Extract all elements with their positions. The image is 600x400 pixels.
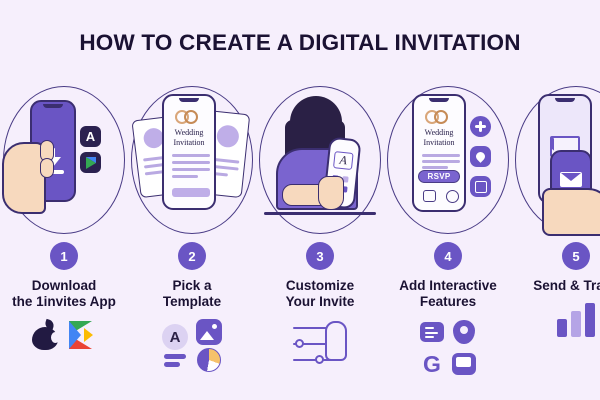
step-4-footer-icons: G: [388, 319, 508, 377]
step-2-illustration: Wedding Invitation: [128, 84, 256, 236]
step-1: A 1 Download the 1invites App: [0, 84, 128, 400]
sliders-hand-icon: [291, 319, 349, 369]
google-play-logo-icon: [66, 319, 96, 351]
step-4-illustration: Wedding Invitation RSVP: [384, 84, 512, 236]
step-4-caption: Add Interactive Features: [386, 278, 510, 310]
phone-notch: [43, 104, 63, 108]
step-1-number: 1: [50, 242, 78, 270]
text-lines-icon: [164, 354, 186, 367]
rsvp-button[interactable]: RSVP: [418, 170, 460, 183]
step-5-footer-icons: [516, 303, 600, 337]
step-4: Wedding Invitation RSVP: [384, 84, 512, 400]
google-play-icon: [80, 152, 101, 173]
wedding-rings-icon: [175, 110, 203, 124]
step-3-number: 3: [306, 242, 334, 270]
app-store-icon: A: [80, 126, 101, 147]
hand-illustration: [318, 176, 344, 210]
step-3-illustration: A: [256, 84, 384, 236]
phone-notch: [429, 98, 449, 102]
page-title: HOW TO CREATE A DIGITAL INVITATION: [0, 30, 600, 56]
step-1-caption: Download the 1invites App: [2, 278, 126, 310]
typography-a-icon: A: [162, 324, 188, 350]
desk-line: [264, 212, 376, 215]
step-1-illustration: A: [0, 84, 128, 236]
apple-logo-icon: [32, 320, 58, 350]
location-pin-icon: [470, 146, 491, 167]
step-2-caption: Pick a Template: [130, 278, 254, 310]
wedding-rings-icon: [425, 110, 453, 124]
step-2-footer-icons: A: [132, 319, 252, 372]
phone-heading: Wedding Invitation: [414, 128, 464, 148]
infographic-canvas: HOW TO CREATE A DIGITAL INVITATION: [0, 0, 600, 400]
phone-notch: [555, 98, 575, 102]
step-4-number: 4: [434, 242, 462, 270]
plus-icon: [470, 116, 491, 137]
google-g-icon: G: [419, 351, 445, 377]
step-5-caption: Send & Track: [514, 278, 600, 294]
step-5: 5 Send & Track: [512, 84, 600, 400]
step-1-footer-icons: [4, 319, 124, 351]
calendar-check-icon: [470, 176, 491, 197]
hand-illustration: [542, 188, 600, 236]
step-3-caption: Customize Your Invite: [258, 278, 382, 310]
form-icon: [419, 319, 445, 345]
step-2: Wedding Invitation 2 Pick a Template A: [128, 84, 256, 400]
phone-notch: [179, 98, 199, 102]
image-icon: [196, 319, 222, 345]
color-wheel-icon: [197, 348, 221, 372]
step-5-number: 5: [562, 242, 590, 270]
steps-row: A 1 Download the 1invites App: [0, 84, 600, 400]
step-3-footer-icons: [260, 319, 380, 369]
envelope-icon: [560, 172, 582, 187]
phone-rsvp: Wedding Invitation RSVP: [412, 94, 466, 212]
chat-bubble-icon: [451, 351, 477, 377]
step-5-illustration: [512, 84, 600, 236]
phone-template: Wedding Invitation: [162, 94, 216, 210]
phone-heading: Wedding Invitation: [164, 128, 214, 148]
location-pin-icon: [451, 319, 477, 345]
step-3: A 3 Customize Your Invite: [256, 84, 384, 400]
text-tool-icon: A: [333, 151, 354, 170]
bar-chart-icon: [557, 303, 595, 337]
step-2-number: 2: [178, 242, 206, 270]
finger: [40, 158, 54, 178]
